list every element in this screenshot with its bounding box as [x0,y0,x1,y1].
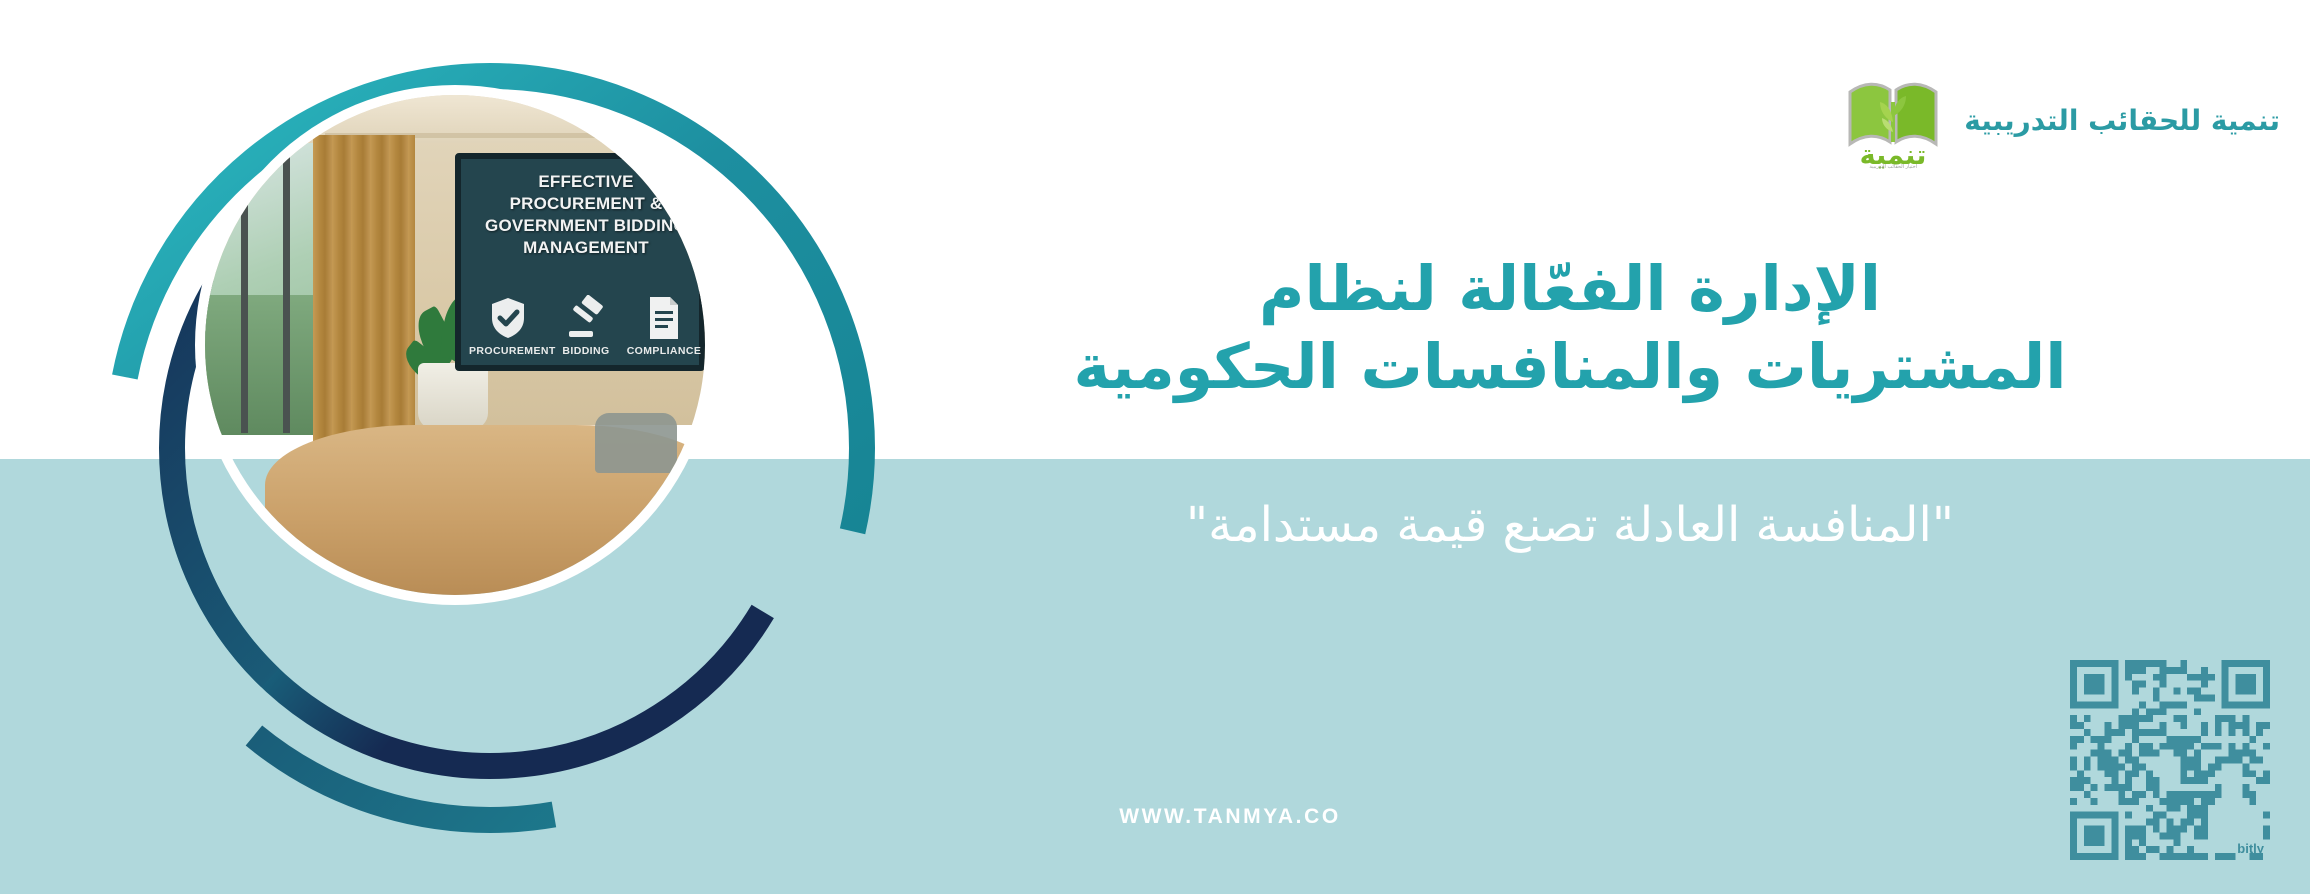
window-mullion [283,143,290,433]
headline-line-2: المشتريات والمنافسات الحكومية [920,328,2220,406]
banner-root: EFFECTIVE PROCUREMENT & GOVERNMENT BIDDI… [0,0,2310,894]
window-mullion [241,143,248,433]
document-icon [644,295,684,341]
website-url[interactable]: WWW.TANMYA.CO [1080,805,1380,829]
logo-sublabel: اختيار الحقائب التدريبية [1844,164,1942,170]
chair [595,413,677,473]
tagline-quote: "المنافسة العادلة تصنع قيمة مستدامة" [920,495,2220,555]
board-label: PROCUREMENT [469,345,547,357]
window-foliage [205,295,323,435]
board-label: BIDDING [547,345,625,357]
plant-pot [418,363,488,429]
qr-provider-label: bitly [2237,841,2264,856]
board-icon-row [469,271,703,341]
brand-tagline: تنمية للحقائب التدريبية [1964,104,2280,137]
headline-line-1: الإدارة الفعّالة لنظام [920,250,2220,328]
qr-code-icon[interactable]: bitly [2070,660,2270,860]
board-label-row: PROCUREMENT BIDDING COMPLIANCE [469,345,703,357]
presentation-board: EFFECTIVE PROCUREMENT & GOVERNMENT BIDDI… [455,153,705,371]
curtain [313,135,415,445]
open-book-plant-logo-icon: تنمية اختيار الحقائب التدريبية [1844,68,1942,172]
board-label: COMPLIANCE [625,345,703,357]
training-photo: EFFECTIVE PROCUREMENT & GOVERNMENT BIDDI… [205,95,705,595]
shield-check-icon [488,295,528,341]
board-title: EFFECTIVE PROCUREMENT & GOVERNMENT BIDDI… [469,171,703,259]
headline-group: الإدارة الفعّالة لنظام المشتريات والمناف… [920,250,2220,406]
brand-logo-block: تنمية للحقائب التدريبية تنمية اختيار الح… [1844,68,2280,172]
gavel-icon [566,295,606,341]
